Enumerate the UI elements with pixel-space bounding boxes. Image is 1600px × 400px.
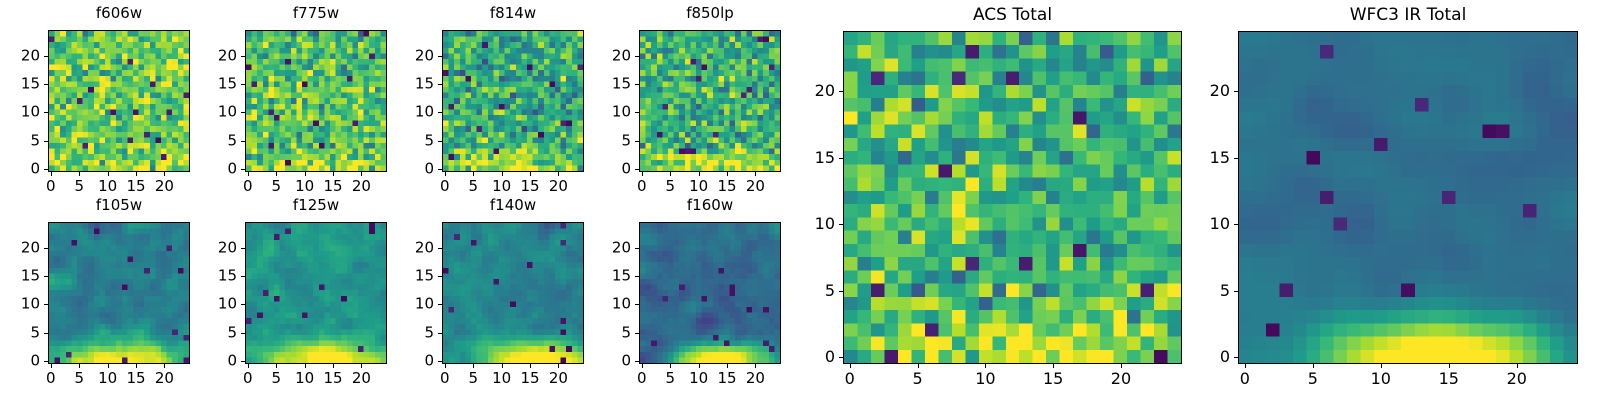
y-tick-label: 20 [185, 240, 237, 255]
y-tick-label: 5 [579, 325, 631, 340]
x-tick-label: 10 [689, 371, 708, 386]
x-tick-label: 15 [1439, 371, 1459, 387]
y-tick-mark [635, 56, 639, 57]
x-tick-mark [502, 172, 503, 176]
x-tick-mark [1381, 364, 1382, 368]
y-tick-label: 20 [0, 48, 40, 63]
x-tick-mark [473, 364, 474, 368]
heatmap-canvas-f814w [443, 31, 583, 171]
y-tick-mark [839, 158, 843, 159]
y-tick-label: 10 [0, 297, 40, 312]
y-tick-mark [635, 248, 639, 249]
y-tick-label: 10 [0, 105, 40, 120]
x-tick-label: 20 [549, 179, 568, 194]
x-tick-mark [136, 364, 137, 368]
x-tick-label: 0 [243, 179, 253, 194]
x-tick-label: 10 [98, 179, 117, 194]
y-tick-label: 15 [185, 268, 237, 283]
x-tick-label: 5 [1308, 371, 1318, 387]
y-tick-label: 10 [579, 105, 631, 120]
y-tick-mark [44, 248, 48, 249]
heatmap-wfc3-ir-total [1238, 31, 1578, 364]
y-tick-label: 0 [579, 162, 631, 177]
y-tick-mark [44, 361, 48, 362]
y-tick-mark [839, 291, 843, 292]
x-tick-label: 15 [717, 371, 736, 386]
x-tick-label: 5 [665, 371, 675, 386]
heatmap-canvas-f160w [640, 223, 780, 363]
x-tick-mark [333, 364, 334, 368]
x-tick-mark [108, 172, 109, 176]
x-tick-label: 10 [975, 371, 995, 387]
y-tick-label: 0 [0, 162, 40, 177]
x-tick-label: 20 [549, 371, 568, 386]
heatmap-f105w [48, 222, 190, 364]
heatmap-f160w [639, 222, 781, 364]
x-tick-label: 5 [271, 179, 281, 194]
x-tick-mark [445, 364, 446, 368]
x-tick-mark [361, 364, 362, 368]
x-tick-mark [1053, 364, 1054, 368]
panel-title-f140w: f140w [442, 198, 584, 213]
x-tick-label: 5 [468, 179, 478, 194]
x-tick-label: 5 [665, 179, 675, 194]
heatmap-acs-total [843, 31, 1182, 364]
y-tick-mark [438, 169, 442, 170]
y-tick-label: 5 [579, 133, 631, 148]
x-tick-mark [51, 364, 52, 368]
panel-f105w: f105w0510152005101520 [0, 196, 190, 390]
heatmap-canvas-f140w [443, 223, 583, 363]
y-tick-label: 5 [783, 283, 835, 299]
y-tick-mark [839, 357, 843, 358]
heatmap-canvas-wfc3-ir-total [1239, 32, 1577, 363]
y-tick-mark [635, 141, 639, 142]
y-tick-label: 10 [783, 216, 835, 232]
x-tick-label: 15 [717, 179, 736, 194]
y-tick-label: 15 [185, 76, 237, 91]
x-tick-mark [276, 364, 277, 368]
x-tick-label: 5 [912, 371, 922, 387]
panel-title-f775w: f775w [245, 6, 387, 21]
y-tick-label: 5 [0, 133, 40, 148]
x-tick-mark [530, 172, 531, 176]
y-tick-mark [44, 141, 48, 142]
panel-f850lp: f850lp0510152005101520 [579, 4, 781, 198]
panel-f125w: f125w0510152005101520 [185, 196, 387, 390]
x-tick-label: 10 [295, 179, 314, 194]
panel-title-wfc3-ir-total: WFC3 IR Total [1238, 7, 1578, 24]
y-tick-mark [438, 84, 442, 85]
x-tick-label: 5 [271, 371, 281, 386]
y-tick-mark [438, 141, 442, 142]
y-tick-label: 5 [1178, 283, 1230, 299]
y-tick-mark [635, 361, 639, 362]
y-tick-mark [438, 361, 442, 362]
heatmap-f814w [442, 30, 584, 172]
y-tick-mark [44, 276, 48, 277]
x-tick-mark [108, 364, 109, 368]
y-tick-label: 0 [382, 354, 434, 369]
x-tick-label: 0 [440, 179, 450, 194]
y-tick-label: 15 [579, 76, 631, 91]
y-tick-mark [44, 169, 48, 170]
y-tick-label: 20 [579, 240, 631, 255]
panel-title-f814w: f814w [442, 6, 584, 21]
y-tick-label: 20 [579, 48, 631, 63]
y-tick-label: 5 [382, 133, 434, 148]
y-tick-label: 20 [382, 48, 434, 63]
y-tick-label: 20 [783, 83, 835, 99]
y-tick-label: 20 [0, 240, 40, 255]
y-tick-mark [44, 112, 48, 113]
y-tick-mark [241, 333, 245, 334]
y-tick-mark [1234, 91, 1238, 92]
y-tick-mark [241, 276, 245, 277]
x-tick-mark [699, 364, 700, 368]
panel-f814w: f814w0510152005101520 [382, 4, 584, 198]
x-tick-mark [642, 364, 643, 368]
x-tick-label: 15 [323, 371, 342, 386]
x-tick-label: 0 [637, 179, 647, 194]
y-tick-mark [839, 91, 843, 92]
y-tick-label: 0 [0, 354, 40, 369]
y-tick-mark [438, 112, 442, 113]
y-tick-mark [438, 248, 442, 249]
panel-f160w: f160w0510152005101520 [579, 196, 781, 390]
y-tick-label: 15 [579, 268, 631, 283]
panel-f775w: f775w0510152005101520 [185, 4, 387, 198]
x-tick-label: 10 [492, 179, 511, 194]
heatmap-canvas-f775w [246, 31, 386, 171]
y-tick-label: 10 [579, 297, 631, 312]
heatmap-f775w [245, 30, 387, 172]
x-tick-mark [558, 172, 559, 176]
y-tick-mark [1234, 158, 1238, 159]
panel-title-f105w: f105w [48, 198, 190, 213]
y-tick-label: 10 [185, 297, 237, 312]
y-tick-label: 15 [783, 150, 835, 166]
y-tick-label: 15 [382, 76, 434, 91]
panel-f606w: f606w0510152005101520 [0, 4, 190, 198]
x-tick-mark [530, 364, 531, 368]
y-tick-label: 10 [382, 105, 434, 120]
x-tick-mark [164, 364, 165, 368]
x-tick-mark [1313, 364, 1314, 368]
x-tick-label: 20 [746, 179, 765, 194]
heatmap-canvas-f606w [49, 31, 189, 171]
x-tick-mark [1517, 364, 1518, 368]
figure-canvas: f606w0510152005101520f775w05101520051015… [0, 0, 1600, 400]
x-tick-label: 20 [1507, 371, 1527, 387]
y-tick-mark [438, 276, 442, 277]
x-tick-label: 20 [352, 179, 371, 194]
x-tick-label: 0 [243, 371, 253, 386]
y-tick-mark [44, 333, 48, 334]
y-tick-label: 20 [185, 48, 237, 63]
x-tick-mark [1449, 364, 1450, 368]
panel-title-f125w: f125w [245, 198, 387, 213]
y-tick-mark [438, 56, 442, 57]
x-tick-label: 20 [155, 179, 174, 194]
y-tick-mark [241, 84, 245, 85]
y-tick-label: 10 [1178, 216, 1230, 232]
x-tick-mark [985, 364, 986, 368]
x-tick-label: 15 [323, 179, 342, 194]
x-tick-mark [670, 364, 671, 368]
y-tick-mark [438, 304, 442, 305]
x-tick-mark [248, 172, 249, 176]
x-tick-label: 5 [74, 371, 84, 386]
y-tick-mark [635, 112, 639, 113]
x-tick-mark [445, 172, 446, 176]
x-tick-label: 0 [845, 371, 855, 387]
y-tick-mark [241, 169, 245, 170]
x-tick-mark [558, 364, 559, 368]
heatmap-f125w [245, 222, 387, 364]
x-tick-mark [305, 172, 306, 176]
x-tick-label: 10 [98, 371, 117, 386]
y-tick-mark [635, 169, 639, 170]
x-tick-label: 5 [74, 179, 84, 194]
heatmap-f140w [442, 222, 584, 364]
x-tick-label: 0 [46, 179, 56, 194]
x-tick-label: 20 [352, 371, 371, 386]
y-tick-mark [635, 333, 639, 334]
x-tick-label: 10 [295, 371, 314, 386]
y-tick-mark [635, 276, 639, 277]
panel-title-acs-total: ACS Total [843, 7, 1182, 24]
y-tick-mark [635, 304, 639, 305]
x-tick-mark [473, 172, 474, 176]
y-tick-mark [241, 141, 245, 142]
x-tick-mark [305, 364, 306, 368]
x-tick-mark [727, 172, 728, 176]
x-tick-mark [918, 364, 919, 368]
x-tick-label: 15 [1043, 371, 1063, 387]
x-tick-mark [361, 172, 362, 176]
x-tick-label: 20 [746, 371, 765, 386]
y-tick-mark [44, 84, 48, 85]
x-tick-mark [164, 172, 165, 176]
heatmap-canvas-f125w [246, 223, 386, 363]
x-tick-label: 0 [1240, 371, 1250, 387]
y-tick-label: 0 [185, 354, 237, 369]
panel-title-f850lp: f850lp [639, 6, 781, 21]
y-tick-label: 0 [579, 354, 631, 369]
y-tick-label: 5 [382, 325, 434, 340]
y-tick-label: 0 [185, 162, 237, 177]
y-tick-label: 15 [1178, 150, 1230, 166]
y-tick-label: 10 [382, 297, 434, 312]
y-tick-label: 20 [1178, 83, 1230, 99]
y-tick-label: 0 [783, 349, 835, 365]
y-tick-label: 20 [382, 240, 434, 255]
x-tick-mark [248, 364, 249, 368]
x-tick-mark [136, 172, 137, 176]
x-tick-label: 15 [126, 179, 145, 194]
y-tick-mark [241, 112, 245, 113]
x-tick-mark [850, 364, 851, 368]
x-tick-mark [727, 364, 728, 368]
y-tick-mark [241, 304, 245, 305]
y-tick-label: 15 [0, 268, 40, 283]
x-tick-label: 0 [637, 371, 647, 386]
y-tick-mark [438, 333, 442, 334]
x-tick-mark [1245, 364, 1246, 368]
y-tick-mark [1234, 224, 1238, 225]
x-tick-label: 15 [520, 371, 539, 386]
x-tick-label: 10 [689, 179, 708, 194]
heatmap-f850lp [639, 30, 781, 172]
x-tick-label: 15 [126, 371, 145, 386]
panel-title-f606w: f606w [48, 6, 190, 21]
y-tick-mark [44, 304, 48, 305]
x-tick-mark [1121, 364, 1122, 368]
x-tick-mark [502, 364, 503, 368]
y-tick-mark [839, 224, 843, 225]
x-tick-label: 20 [1111, 371, 1131, 387]
x-tick-label: 0 [46, 371, 56, 386]
x-tick-label: 20 [155, 371, 174, 386]
x-tick-mark [755, 364, 756, 368]
x-tick-mark [333, 172, 334, 176]
panel-title-f160w: f160w [639, 198, 781, 213]
panel-acs-total: ACS Total0510152005101520 [783, 5, 1182, 390]
y-tick-mark [241, 56, 245, 57]
y-tick-mark [1234, 291, 1238, 292]
x-tick-label: 10 [1371, 371, 1391, 387]
heatmap-f606w [48, 30, 190, 172]
x-tick-label: 15 [520, 179, 539, 194]
x-tick-mark [51, 172, 52, 176]
y-tick-mark [241, 361, 245, 362]
x-tick-mark [79, 172, 80, 176]
y-tick-mark [44, 56, 48, 57]
y-tick-label: 5 [0, 325, 40, 340]
y-tick-mark [1234, 357, 1238, 358]
panel-f140w: f140w0510152005101520 [382, 196, 584, 390]
y-tick-label: 0 [382, 162, 434, 177]
y-tick-mark [635, 84, 639, 85]
x-tick-mark [699, 172, 700, 176]
y-tick-label: 5 [185, 133, 237, 148]
y-tick-label: 10 [185, 105, 237, 120]
heatmap-canvas-f850lp [640, 31, 780, 171]
x-tick-mark [642, 172, 643, 176]
y-tick-label: 15 [0, 76, 40, 91]
y-tick-label: 0 [1178, 349, 1230, 365]
x-tick-mark [276, 172, 277, 176]
panel-wfc3-ir-total: WFC3 IR Total0510152005101520 [1178, 5, 1578, 390]
x-tick-mark [79, 364, 80, 368]
y-tick-label: 15 [382, 268, 434, 283]
x-tick-label: 5 [468, 371, 478, 386]
y-tick-label: 5 [185, 325, 237, 340]
x-tick-mark [670, 172, 671, 176]
heatmap-canvas-f105w [49, 223, 189, 363]
x-tick-label: 0 [440, 371, 450, 386]
y-tick-mark [241, 248, 245, 249]
x-tick-label: 10 [492, 371, 511, 386]
heatmap-canvas-acs-total [844, 32, 1181, 363]
x-tick-mark [755, 172, 756, 176]
